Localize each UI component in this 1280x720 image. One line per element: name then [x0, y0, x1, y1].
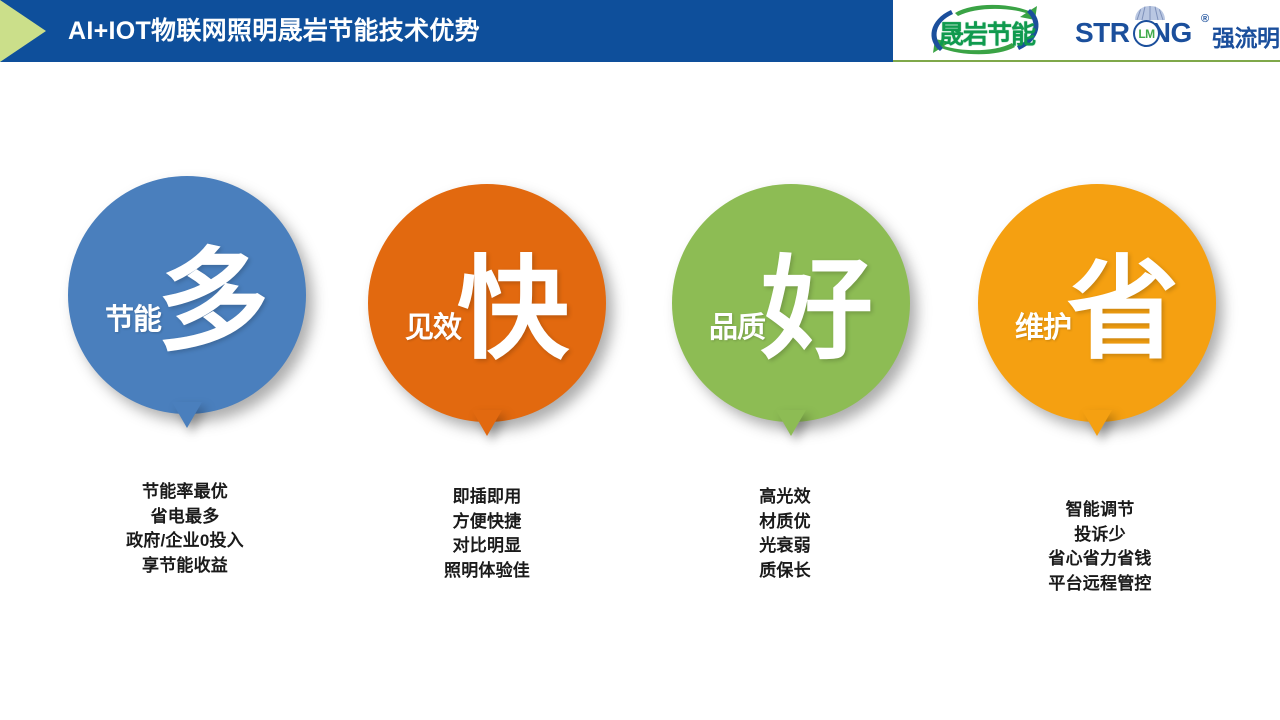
pin-text: 节能 多: [68, 176, 306, 414]
caption-line: 省电最多: [60, 505, 310, 530]
caption-column-4: 智能调节 投诉少 省心省力省钱 平台远程管控: [975, 498, 1225, 596]
logo-lm-badge: LM: [1133, 20, 1160, 47]
caption-line: 对比明显: [362, 534, 612, 559]
caption-line: 享节能收益: [60, 554, 310, 579]
caption-line: 质保长: [660, 559, 910, 584]
caption-line: 节能率最优: [60, 480, 310, 505]
pin-text: 品质 好: [672, 184, 910, 422]
caption-line: 高光效: [660, 485, 910, 510]
pin-big-word: 多: [157, 246, 269, 358]
logo-shengyan: 晟岩节能: [901, 3, 1069, 57]
caption-line: 照明体验佳: [362, 559, 612, 584]
advantage-captions: 节能率最优 省电最多 政府/企业0投入 享节能收益 即插即用 方便快捷 对比明显…: [0, 470, 1280, 640]
caption-line: 省心省力省钱: [975, 547, 1225, 572]
pin-small-word: 品质: [709, 304, 765, 346]
page-title: AI+IOT物联网照明晟岩节能技术优势: [68, 0, 480, 62]
company-logo: 晟岩节能 STRONG LM ® 强流明照明: [893, 0, 1280, 62]
caption-line: 智能调节: [975, 498, 1225, 523]
advantage-pin-1: 节能 多: [68, 176, 306, 428]
pin-small-word: 维护: [1015, 304, 1071, 346]
caption-line: 即插即用: [362, 485, 612, 510]
slide-canvas: AI+IOT物联网照明晟岩节能技术优势 晟岩节能 STRONG LM ® 强: [0, 0, 1280, 720]
pin-big-word: 快: [457, 254, 569, 366]
caption-line: 材质优: [660, 510, 910, 535]
logo-brand-cn: 晟岩节能: [905, 15, 1069, 51]
caption-line: 平台远程管控: [975, 572, 1225, 597]
registered-trademark-icon: ®: [1201, 13, 1209, 25]
pin-small-word: 节能: [105, 296, 161, 338]
advantage-pins: 节能 多 见效 快 品质 好 维护 省: [0, 176, 1280, 436]
caption-line: 方便快捷: [362, 510, 612, 535]
pin-big-word: 好: [761, 254, 873, 366]
pin-text: 维护 省: [978, 184, 1216, 422]
caption-line: 政府/企业0投入: [60, 529, 310, 554]
caption-column-1: 节能率最优 省电最多 政府/企业0投入 享节能收益: [60, 480, 310, 578]
pin-text: 见效 快: [368, 184, 606, 422]
caption-column-2: 即插即用 方便快捷 对比明显 照明体验佳: [362, 485, 612, 583]
pin-big-word: 省: [1067, 254, 1179, 366]
pin-small-word: 见效: [405, 304, 461, 346]
advantage-pin-3: 品质 好: [672, 184, 910, 436]
strong-prefix: STR: [1075, 17, 1130, 48]
caption-line: 投诉少: [975, 523, 1225, 548]
chevron-right-icon: [0, 0, 46, 62]
advantage-pin-2: 见效 快: [368, 184, 606, 436]
caption-line: 光衰弱: [660, 534, 910, 559]
advantage-pin-4: 维护 省: [978, 184, 1216, 436]
logo-brand-cn-secondary: 强流明照明: [1212, 19, 1280, 53]
caption-column-3: 高光效 材质优 光衰弱 质保长: [660, 485, 910, 583]
